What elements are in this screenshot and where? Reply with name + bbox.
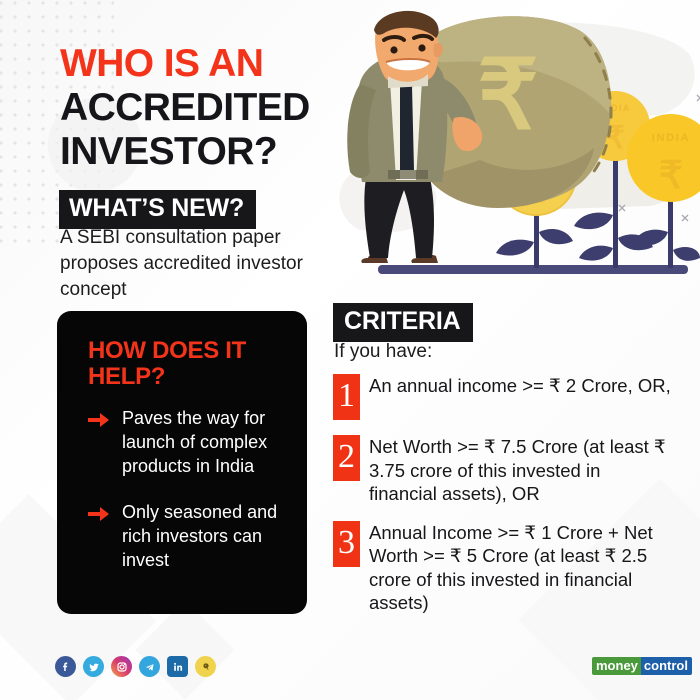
criteria-subtitle: If you have: bbox=[334, 341, 432, 363]
instagram-icon[interactable] bbox=[111, 656, 132, 677]
criteria-item-text: Annual Income >= ₹ 1 Crore + Net Worth >… bbox=[369, 521, 673, 615]
criteria-item-text: Net Worth >= ₹ 7.5 Crore (at least ₹ 3.7… bbox=[369, 435, 673, 506]
criteria-tag: CRITERIA bbox=[333, 303, 473, 342]
telegram-icon[interactable] bbox=[139, 656, 160, 677]
twitter-icon[interactable] bbox=[83, 656, 104, 677]
arrow-right-icon bbox=[88, 409, 111, 431]
headline-line-1: WHO IS AN bbox=[60, 42, 370, 86]
how-does-it-help-list: Paves the way for launch of complex prod… bbox=[88, 406, 288, 594]
koo-icon[interactable] bbox=[195, 656, 216, 677]
how-does-it-help-card: HOW DOES IT HELP? Paves the way for laun… bbox=[57, 311, 307, 614]
whats-new-body: A SEBI consultation paper proposes accre… bbox=[60, 225, 335, 303]
svg-text:₹: ₹ bbox=[477, 42, 538, 149]
social-links[interactable] bbox=[55, 656, 216, 677]
criteria-list: 1 An annual income >= ₹ 2 Crore, OR, 2 N… bbox=[333, 374, 673, 630]
headline-line-3: INVESTOR? bbox=[60, 130, 370, 174]
criteria-number-badge: 3 bbox=[333, 521, 360, 567]
infographic-canvas: INDIA ₹ INDIA ₹ INDIA ₹ bbox=[0, 0, 700, 700]
list-item-label: Only seasoned and rich investors can inv… bbox=[122, 500, 288, 572]
linkedin-icon[interactable] bbox=[167, 656, 188, 677]
criteria-item: 3 Annual Income >= ₹ 1 Crore + Net Worth… bbox=[333, 521, 673, 615]
list-item-label: Paves the way for launch of complex prod… bbox=[122, 406, 288, 478]
list-item: Paves the way for launch of complex prod… bbox=[88, 406, 288, 478]
logo-money: money bbox=[592, 657, 641, 675]
svg-text:INDIA: INDIA bbox=[652, 132, 690, 144]
arrow-right-icon bbox=[88, 503, 111, 525]
headline-line-2: ACCREDITED bbox=[60, 86, 370, 130]
logo-control: control bbox=[641, 657, 692, 675]
how-does-it-help-title: HOW DOES IT HELP? bbox=[88, 338, 288, 390]
criteria-item-text: An annual income >= ₹ 2 Crore, OR, bbox=[369, 374, 671, 420]
page-title: WHO IS AN ACCREDITED INVESTOR? bbox=[60, 42, 370, 174]
criteria-number-badge: 2 bbox=[333, 435, 360, 481]
businessman-money-bag-illustration: INDIA ₹ INDIA ₹ INDIA ₹ bbox=[330, 10, 700, 310]
svg-text:₹: ₹ bbox=[659, 155, 683, 197]
criteria-number-badge: 1 bbox=[333, 374, 360, 420]
criteria-item: 1 An annual income >= ₹ 2 Crore, OR, bbox=[333, 374, 673, 420]
moneycontrol-logo: money control bbox=[592, 657, 692, 675]
facebook-icon[interactable] bbox=[55, 656, 76, 677]
list-item: Only seasoned and rich investors can inv… bbox=[88, 500, 288, 572]
whats-new-tag: WHAT’S NEW? bbox=[59, 190, 256, 229]
criteria-item: 2 Net Worth >= ₹ 7.5 Crore (at least ₹ 3… bbox=[333, 435, 673, 506]
